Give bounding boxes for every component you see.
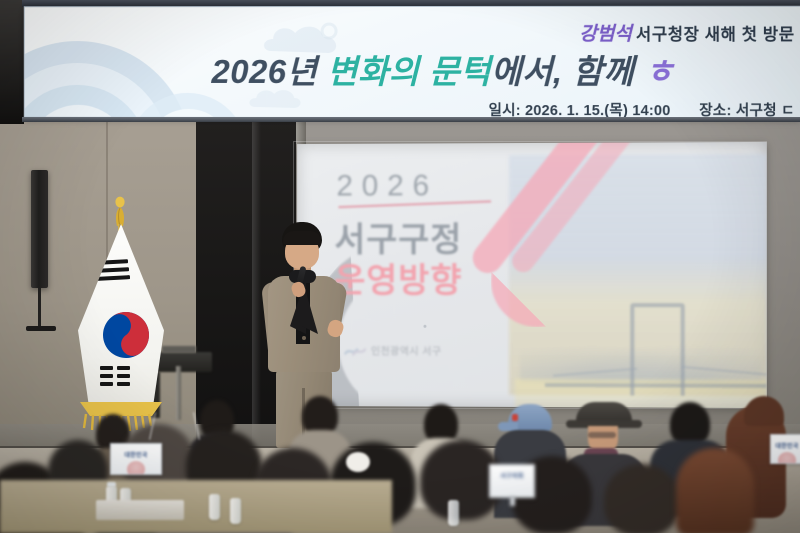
audience-head	[744, 396, 784, 426]
placard-text: 대한민국	[111, 450, 161, 459]
wall-speaker	[31, 170, 48, 288]
banner-date-value: 2026. 1. 15.(목) 14:00	[525, 103, 671, 118]
audience-head-front	[604, 464, 680, 533]
banner-subtitle-line: 강범석서구청장 새해 첫 방문	[579, 19, 794, 46]
banner-place-label: 장소:	[699, 103, 731, 118]
slide-year: 2026	[336, 169, 438, 203]
headline-part-6: ㅎ	[644, 53, 675, 90]
trigram-bar-5b	[117, 374, 130, 378]
headline-part-5: 함께	[572, 53, 634, 90]
headline-part-3: 문턱	[429, 53, 491, 90]
eyeglasses-icon	[588, 432, 616, 438]
table-placard[interactable]: 대한민국	[770, 434, 800, 464]
trigram-bar-4a	[100, 366, 113, 370]
water-bottle	[209, 494, 220, 520]
speaker-stand	[38, 288, 41, 328]
photo-scene: 강범석서구청장 새해 첫 방문 2026년 변화의 문턱에서, 함께 ㅎ 일시:…	[0, 0, 800, 533]
placard-stand	[510, 496, 515, 506]
placard-seal-icon	[127, 461, 145, 475]
banner-details-line: 일시: 2026. 1. 15.(목) 14:00 장소: 서구청 ㄷ	[489, 99, 795, 118]
placard-text: 대한민국	[771, 441, 800, 450]
water-bottle	[448, 500, 459, 526]
speaker-fringe-hair	[283, 231, 321, 245]
trigram-bar-5a	[100, 374, 113, 378]
trigram-bar-3	[96, 275, 130, 281]
banner-left-shadow	[0, 0, 24, 124]
banner-date-label: 일시:	[489, 103, 521, 118]
headline-part-1: 2026년	[211, 53, 317, 90]
bridge-tower	[630, 303, 684, 396]
trigram-bar-4b	[117, 366, 130, 370]
placard-text: 서구의회	[490, 471, 534, 480]
speaker-jacket-button	[302, 336, 306, 340]
water-bottle	[230, 498, 241, 524]
table-placard[interactable]: 서구의회	[489, 464, 535, 498]
audience-head-front	[676, 448, 754, 533]
bottle-cap	[107, 482, 116, 487]
banner-official-name: 강범석	[579, 24, 632, 45]
trigram-bar-2	[97, 267, 129, 273]
banner-frame-bottom	[22, 117, 800, 122]
hair-accessory	[346, 452, 370, 472]
audience-table	[0, 480, 392, 533]
taeguk-symbol	[101, 310, 151, 360]
banner-place-value: 서구청 ㄷ	[736, 103, 795, 118]
placard-seal-icon	[778, 452, 796, 464]
flag-finial-icon	[112, 196, 128, 226]
paper-documents	[96, 500, 184, 520]
event-banner: 강범석서구청장 새해 첫 방문 2026년 변화의 문턱에서, 함께 ㅎ 일시:…	[24, 6, 800, 119]
banner-subtitle-rest: 서구청장 새해 첫 방문	[636, 26, 795, 44]
headline-part-2: 변화의	[327, 53, 420, 90]
trigram-bar-6b	[117, 382, 130, 386]
cap-logo-icon	[512, 414, 518, 421]
trigram-bar-6a	[100, 382, 113, 386]
trigram-bar-1	[98, 259, 128, 265]
speaker-base	[26, 326, 56, 331]
projection-screen: 2026 서구구정 운영방향 인천광역시 서구	[297, 142, 767, 408]
slide-dot	[423, 325, 426, 328]
headline-part-4: 에서,	[491, 53, 563, 90]
flag-cloth	[78, 224, 164, 414]
banner-headline: 2026년 변화의 문턱에서, 함께 ㅎ	[211, 45, 675, 93]
slide-logo-text: 인천광역시 서구	[371, 343, 442, 358]
table-placard[interactable]: 대한민국	[110, 443, 162, 475]
